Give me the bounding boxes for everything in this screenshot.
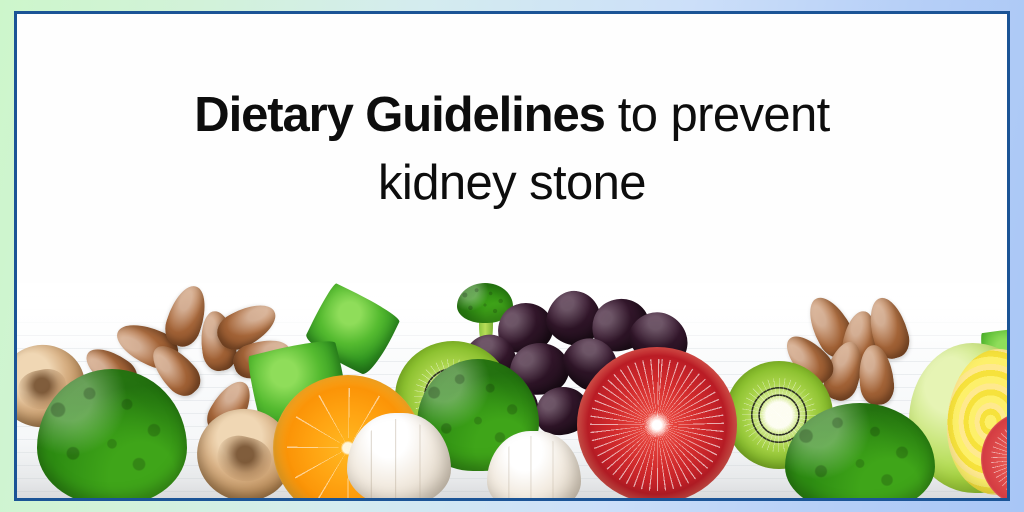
headline-second-line: kidney stone (378, 156, 646, 210)
bordered-card-frame: Dietary Guidelines to prevent kidney sto… (14, 11, 1010, 501)
blood-orange-half-icon (577, 347, 737, 498)
card-content-area: Dietary Guidelines to prevent kidney sto… (17, 14, 1007, 498)
headline-regular-part: to prevent (605, 88, 830, 142)
headline-bold-part: Dietary Guidelines (194, 88, 604, 142)
produce-photo (17, 283, 1007, 498)
page-title: Dietary Guidelines to prevent kidney sto… (17, 82, 1007, 217)
banner-root: Dietary Guidelines to prevent kidney sto… (0, 0, 1024, 512)
